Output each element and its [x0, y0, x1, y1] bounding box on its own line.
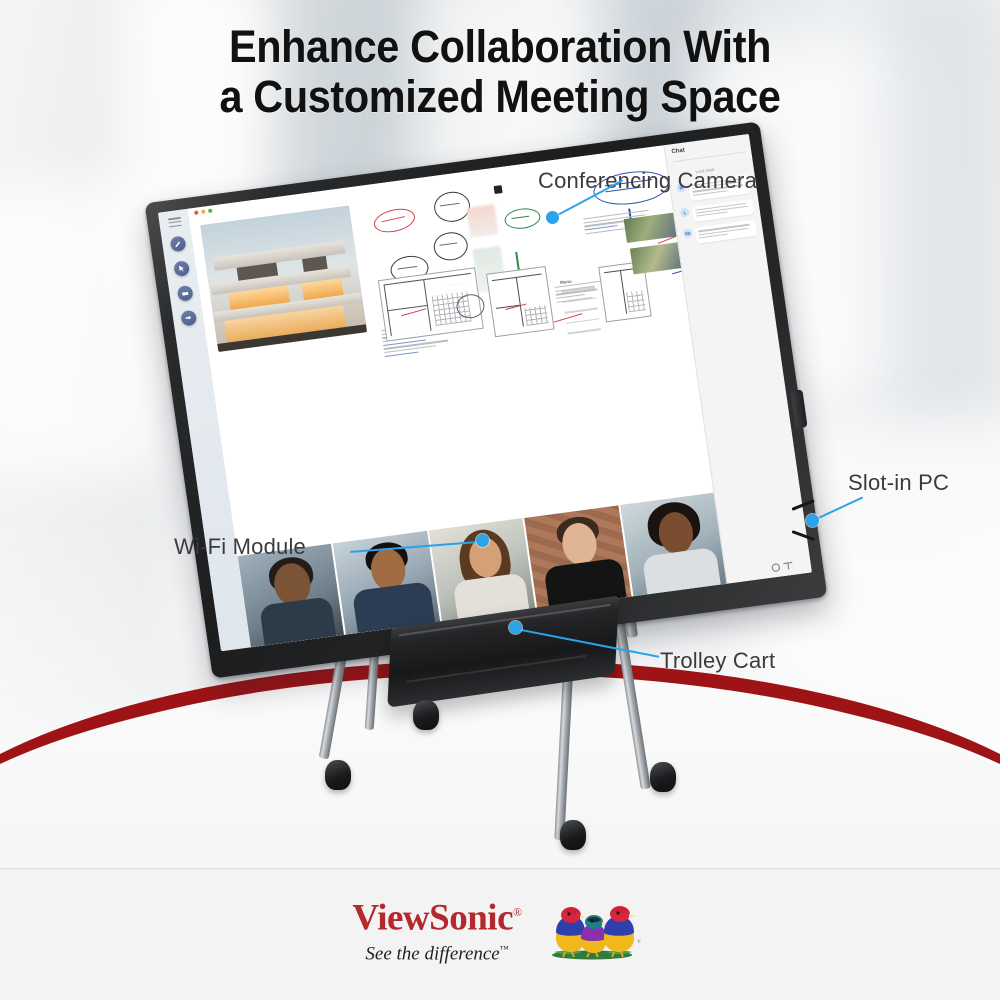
brand-wordmark-text: ViewSonic: [352, 897, 513, 938]
callout-conferencing-camera: Conferencing Camera: [538, 168, 757, 194]
share-tool-icon[interactable]: [180, 310, 197, 327]
select-tool-icon[interactable]: [173, 260, 190, 277]
svg-text:®: ®: [637, 939, 641, 945]
gouldian-finches-icon: ®: [536, 898, 648, 960]
marketing-banner: Enhance Collaboration With a Customized …: [0, 0, 1000, 1000]
trolley-caster: [325, 760, 351, 790]
architecture-render-image: [200, 205, 367, 352]
trolley-caster: [650, 762, 676, 792]
registered-mark: ®: [513, 905, 522, 919]
callout-marker-trolley-cart: [509, 621, 522, 634]
callout-marker-conferencing-camera: [546, 211, 559, 224]
callout-wifi-module: Wi-Fi Module: [174, 534, 306, 560]
brand-tagline-text: See the difference: [365, 944, 499, 965]
callout-marker-slot-in-pc: [806, 514, 819, 527]
hamburger-menu-icon[interactable]: [167, 217, 181, 228]
floor-plan-drawing: [486, 266, 555, 337]
trolley-caster: [413, 700, 439, 730]
chat-message[interactable]: L: [680, 199, 755, 224]
trademark-mark: ™: [500, 944, 509, 954]
brand-wordmark: ViewSonic®: [352, 893, 521, 937]
avatar: SD: [683, 229, 693, 239]
trolley-caster: [560, 820, 586, 850]
whiteboard-photo-thumbnail: [494, 185, 503, 194]
whiteboard-canvas[interactable]: Menu: [188, 145, 727, 647]
avatar: L: [680, 207, 690, 217]
brand-tagline: See the difference™: [352, 938, 521, 965]
participant-tile[interactable]: [620, 493, 727, 597]
pen-tool-icon[interactable]: [169, 236, 186, 253]
callout-trolley-cart: Trolley Cart: [660, 648, 775, 674]
participant-tile[interactable]: [524, 505, 631, 609]
callout-slot-in-pc: Slot-in PC: [848, 470, 949, 496]
product-illustration: Menu Chat Last read W: [0, 0, 1000, 1000]
callout-marker-wifi-module: [476, 534, 489, 547]
interactive-display: Menu Chat Last read W: [144, 121, 827, 678]
eraser-tool-icon[interactable]: [176, 285, 193, 302]
brand-logo: ViewSonic® See the difference™: [0, 893, 1000, 966]
chat-message[interactable]: SD: [683, 220, 758, 245]
